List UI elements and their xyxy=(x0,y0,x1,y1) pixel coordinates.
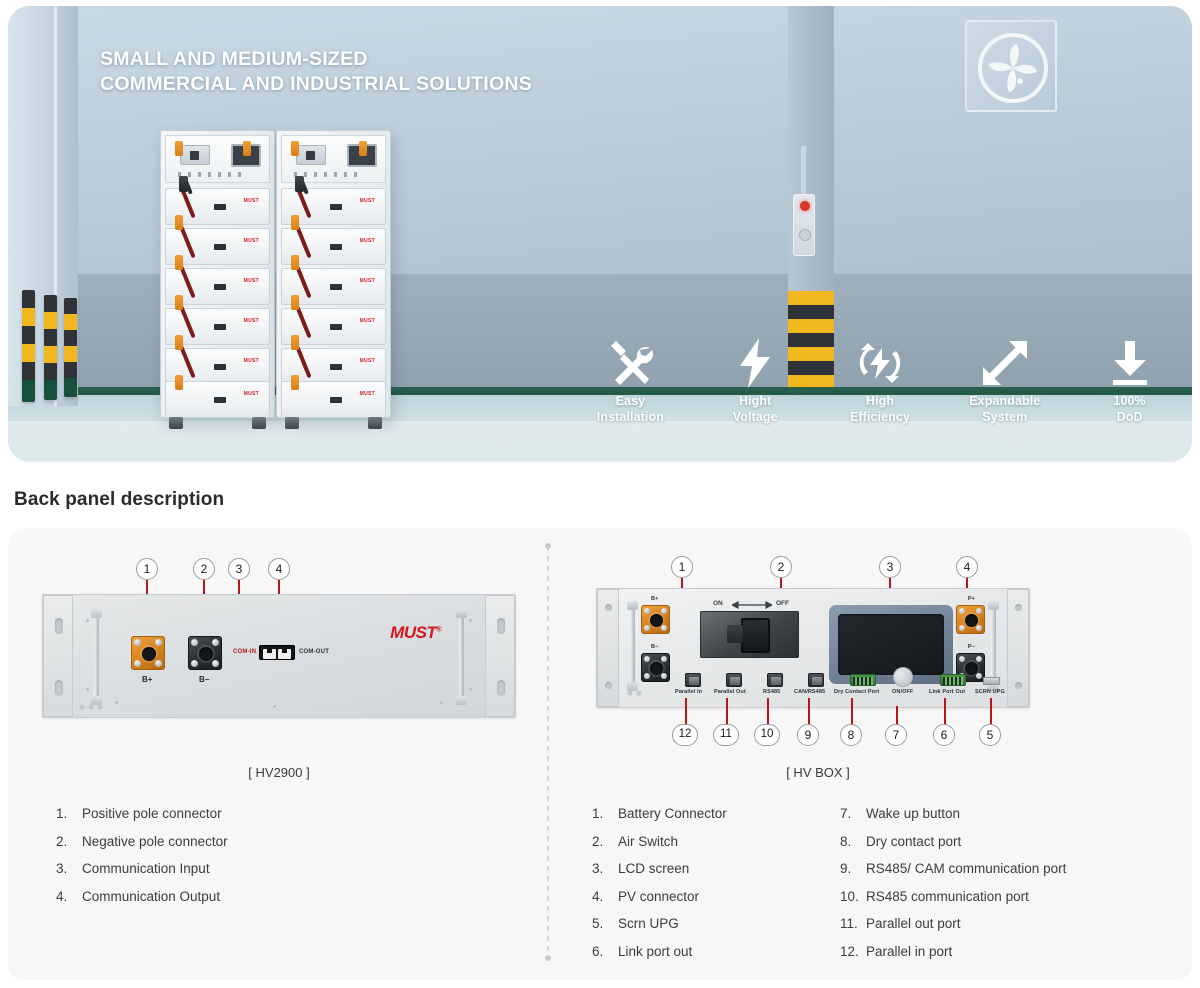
list-item: 6. Link port out xyxy=(592,938,822,966)
callout-marker-1-hvbox: 1 xyxy=(671,556,693,578)
callout-leader-7 xyxy=(896,706,898,725)
feature-high-efficiency: High Efficiency xyxy=(818,336,943,425)
rack-ear-left xyxy=(43,595,73,717)
dry-contact-label: Dry Contact Port xyxy=(834,689,879,695)
hero-headline-line2: COMMERCIAL AND INDUSTRIAL SOLUTIONS xyxy=(100,72,532,97)
callout-marker-10: 10 xyxy=(754,724,780,746)
com-in-label: COM-IN xyxy=(233,649,256,655)
com-in-jack[interactable] xyxy=(263,649,276,659)
list-item: 1. Battery Connector xyxy=(592,800,822,828)
hv2900-panel: B+ B− COM-IN COM-OUT MUST® xyxy=(42,594,516,718)
list-item: 11. Parallel out port xyxy=(840,910,1160,938)
can-rs485-label: CAN/RS485 xyxy=(794,689,825,695)
vertical-divider xyxy=(547,546,549,958)
bollard xyxy=(44,295,57,400)
parallel-in-label: Parallel In xyxy=(675,689,702,695)
list-item-label: RS485 communication port xyxy=(866,883,1029,911)
bollard xyxy=(22,290,35,402)
module-brand-mark: MUST xyxy=(244,318,259,324)
callout-marker-3: 3 xyxy=(228,558,250,580)
cabinet-meter xyxy=(296,145,326,165)
list-item-label: Link port out xyxy=(618,938,692,966)
feature-caption: High Efficiency xyxy=(850,394,910,425)
cabinet-orange-lug xyxy=(243,141,251,156)
module-brand-mark: MUST xyxy=(360,238,375,244)
parallel-out-port[interactable] xyxy=(726,673,742,687)
cabinet-orange-lug xyxy=(291,215,299,230)
feature-caption: Expandable System xyxy=(969,394,1040,425)
feature-caption-line2: Efficiency xyxy=(850,410,910,426)
download-arrow-icon xyxy=(1107,336,1153,390)
panel-vent-holes xyxy=(625,688,643,697)
panel-vent-holes xyxy=(77,702,103,711)
list-item: 9. RS485/ CAM communication port xyxy=(840,855,1160,883)
fan-icon xyxy=(976,31,1050,105)
feature-caption-line1: Expandable xyxy=(969,394,1040,410)
list-item-number: 4. xyxy=(56,883,82,911)
module-brand-mark: MUST xyxy=(360,358,375,364)
lcd-screen[interactable] xyxy=(829,605,953,684)
list-item-number: 12. xyxy=(840,938,866,966)
list-item-number: 8. xyxy=(840,828,866,856)
air-switch[interactable] xyxy=(700,611,799,658)
feature-high-voltage: Hight Voltage xyxy=(693,336,818,425)
battery-positive-label: B+ xyxy=(651,596,658,602)
negative-pole-connector[interactable] xyxy=(188,636,222,670)
link-port-out-label: Link Port Out xyxy=(929,689,965,695)
feature-caption: Easy Installation xyxy=(597,394,664,425)
callout-marker-2-hvbox: 2 xyxy=(770,556,792,578)
callout-marker-9: 9 xyxy=(797,724,819,746)
feature-caption-line2: System xyxy=(969,410,1040,426)
battery-negative-label: B− xyxy=(651,644,658,650)
callout-marker-5: 5 xyxy=(979,724,1001,746)
module-brand-mark: MUST xyxy=(360,391,375,397)
pv-positive-connector[interactable] xyxy=(956,605,985,634)
switch-on-label: ON xyxy=(713,600,723,607)
callout-leader-5 xyxy=(990,698,992,725)
hvbox-panel: B+ B− ON OFF P+ xyxy=(596,588,1030,708)
parallel-in-port[interactable] xyxy=(685,673,701,687)
feature-caption-line2: Voltage xyxy=(733,410,778,426)
cabinet-orange-lug xyxy=(175,375,183,390)
cabinet-caster xyxy=(285,417,299,429)
com-out-jack[interactable] xyxy=(278,649,291,659)
callout-leader-10 xyxy=(767,698,769,725)
section-title: Back panel description xyxy=(14,489,224,511)
list-item-label: Parallel in port xyxy=(866,938,952,966)
communication-port-block[interactable] xyxy=(259,645,295,660)
list-item: 1. Positive pole connector xyxy=(56,800,386,828)
cabinet-orange-lug xyxy=(359,141,367,156)
list-item: 3. LCD screen xyxy=(592,855,822,883)
list-item-number: 2. xyxy=(56,828,82,856)
dry-contact-port[interactable] xyxy=(850,674,876,686)
module-brand-mark: MUST xyxy=(360,318,375,324)
list-item-number: 2. xyxy=(592,828,618,856)
list-item-label: RS485/ CAM communication port xyxy=(866,855,1066,883)
hv2900-legend-list: 1. Positive pole connector 2. Negative p… xyxy=(56,800,386,910)
com-out-label: COM-OUT xyxy=(299,649,329,655)
list-item-label: LCD screen xyxy=(618,855,689,883)
list-item-number: 4. xyxy=(592,883,618,911)
pv-negative-label: P− xyxy=(968,644,975,650)
list-item-number: 6. xyxy=(592,938,618,966)
rs485-port[interactable] xyxy=(767,673,783,687)
callout-leader-8 xyxy=(851,698,853,725)
scrn-upg-port[interactable] xyxy=(983,677,1000,685)
callout-marker-8: 8 xyxy=(840,724,862,746)
list-item-label: Battery Connector xyxy=(618,800,727,828)
hvbox-legend-list-left: 1. Battery Connector 2. Air Switch 3. LC… xyxy=(592,800,822,965)
module-brand-mark: MUST xyxy=(244,198,259,204)
cabinet-black-lug xyxy=(295,176,304,192)
list-item-label: Negative pole connector xyxy=(82,828,228,856)
alarm-led-icon xyxy=(800,201,810,211)
list-item: 8. Dry contact port xyxy=(840,828,1160,856)
list-item-label: Dry contact port xyxy=(866,828,961,856)
feature-caption: Hight Voltage xyxy=(733,394,778,425)
module-brand-mark: MUST xyxy=(244,391,259,397)
alarm-conduit xyxy=(801,146,806,196)
callout-marker-2: 2 xyxy=(193,558,215,580)
switch-direction-arrows-icon xyxy=(732,601,772,609)
list-item-label: Communication Output xyxy=(82,883,220,911)
efficiency-cycle-icon xyxy=(855,336,905,390)
callout-leader-9 xyxy=(808,698,810,725)
hvbox-caption: [ HV BOX ] xyxy=(718,765,918,780)
list-item: 5. Scrn UPG xyxy=(592,910,822,938)
feature-easy-installation: Easy Installation xyxy=(568,336,693,425)
callout-leader-11 xyxy=(726,698,728,725)
tools-icon xyxy=(606,336,654,390)
cabinet-meter xyxy=(180,145,210,165)
callout-marker-3-hvbox: 3 xyxy=(879,556,901,578)
battery-positive-connector[interactable] xyxy=(641,605,670,634)
cabinet-caster xyxy=(252,417,266,429)
callout-marker-4: 4 xyxy=(268,558,290,580)
cabinet-orange-lug xyxy=(175,335,183,350)
feature-caption-line1: 100% xyxy=(1113,394,1145,410)
fire-alarm-box xyxy=(793,194,815,256)
list-item: 2. Negative pole connector xyxy=(56,828,386,856)
list-item-number: 10. xyxy=(840,883,866,911)
can-rs485-port[interactable] xyxy=(808,673,824,687)
battery-cabinet: MUST MUST MUST MUST MUST MUST xyxy=(160,130,275,418)
hvbox-legend-list-right: 7. Wake up button 8. Dry contact port 9.… xyxy=(840,800,1160,965)
cabinet-orange-lug xyxy=(291,375,299,390)
callout-marker-7: 7 xyxy=(885,724,907,746)
page-root: MUST MUST MUST MUST MUST MUST xyxy=(0,0,1200,988)
rs485-label: RS485 xyxy=(763,689,780,695)
rack-ear-right xyxy=(485,595,515,717)
feature-caption-line2: DoD xyxy=(1113,410,1145,426)
feature-caption-line1: Easy xyxy=(597,394,664,410)
cabinet-orange-lug xyxy=(291,335,299,350)
wake-up-button[interactable] xyxy=(893,667,913,687)
panel-handle-left xyxy=(627,603,638,689)
feature-100-dod: 100% DoD xyxy=(1067,336,1192,425)
module-brand-mark: MUST xyxy=(244,358,259,364)
list-item-label: Positive pole connector xyxy=(82,800,222,828)
cabinet-black-lug xyxy=(179,176,188,192)
scrn-upg-label: SCRN UPG xyxy=(975,689,1005,695)
list-item: 4. PV connector xyxy=(592,883,822,911)
cabinet-orange-lug xyxy=(291,295,299,310)
cabinet-indicator-row xyxy=(294,172,364,177)
list-item: 2. Air Switch xyxy=(592,828,822,856)
list-item-number: 3. xyxy=(592,855,618,883)
list-item-label: Scrn UPG xyxy=(618,910,679,938)
module-brand-mark: MUST xyxy=(244,278,259,284)
callout-marker-6: 6 xyxy=(933,724,955,746)
on-off-label: ON/OFF xyxy=(892,689,913,695)
switch-off-label: OFF xyxy=(776,600,789,607)
battery-negative-connector[interactable] xyxy=(641,653,670,682)
list-item: 4. Communication Output xyxy=(56,883,386,911)
bollard xyxy=(64,298,77,397)
negative-pole-label: B− xyxy=(199,675,209,684)
feature-caption: 100% DoD xyxy=(1113,394,1145,425)
list-item-label: PV connector xyxy=(618,883,699,911)
callout-marker-11: 11 xyxy=(713,724,739,746)
rack-ear-right xyxy=(1007,589,1029,707)
list-item-number: 9. xyxy=(840,855,866,883)
cabinet-indicator-row xyxy=(178,172,248,177)
feature-caption-line1: Hight xyxy=(733,394,778,410)
hero-banner: MUST MUST MUST MUST MUST MUST xyxy=(8,6,1192,462)
callout-marker-12: 12 xyxy=(672,724,698,746)
must-logo: MUST® xyxy=(390,623,441,643)
callout-leader-12 xyxy=(685,698,687,725)
exhaust-fan-vent xyxy=(965,20,1057,112)
rack-ear-left xyxy=(597,589,619,707)
expand-arrow-icon xyxy=(981,336,1029,390)
list-item-label: Communication Input xyxy=(82,855,210,883)
list-item-number: 11. xyxy=(840,910,866,938)
list-item-label: Air Switch xyxy=(618,828,678,856)
list-item-label: Parallel out port xyxy=(866,910,961,938)
list-item-number: 3. xyxy=(56,855,82,883)
feature-expandable-system: Expandable System xyxy=(942,336,1067,425)
list-item-label: Wake up button xyxy=(866,800,960,828)
cabinet-orange-lug xyxy=(291,255,299,270)
alarm-button-icon xyxy=(799,229,811,241)
list-item: 10. RS485 communication port xyxy=(840,883,1160,911)
parallel-out-label: Parallel Out xyxy=(714,689,746,695)
cabinet-orange-lug xyxy=(175,215,183,230)
list-item-number: 1. xyxy=(592,800,618,828)
panel-handle-left xyxy=(91,611,102,703)
list-item-number: 5. xyxy=(592,910,618,938)
feature-caption-line1: High xyxy=(850,394,910,410)
hero-headline-line1: SMALL AND MEDIUM-SIZED xyxy=(100,47,532,72)
cabinet-caster xyxy=(169,417,183,429)
battery-cabinet: MUST MUST MUST MUST MUST MUST xyxy=(276,130,391,418)
list-item: 7. Wake up button xyxy=(840,800,1160,828)
lightning-bolt-icon xyxy=(738,336,772,390)
cabinet-orange-lug xyxy=(291,141,299,156)
panel-handle-right xyxy=(456,611,467,703)
link-port-out[interactable] xyxy=(940,674,966,686)
cabinet-orange-lug xyxy=(175,255,183,270)
must-logo-text: MUST xyxy=(390,623,436,642)
positive-pole-label: B+ xyxy=(142,675,152,684)
pv-positive-label: P+ xyxy=(968,596,975,602)
list-item-number: 1. xyxy=(56,800,82,828)
list-item: 12. Parallel in port xyxy=(840,938,1160,966)
callout-marker-1: 1 xyxy=(136,558,158,580)
list-item: 3. Communication Input xyxy=(56,855,386,883)
list-item-number: 7. xyxy=(840,800,866,828)
feature-caption-line2: Installation xyxy=(597,410,664,426)
hero-headline: SMALL AND MEDIUM-SIZED COMMERCIAL AND IN… xyxy=(100,47,532,97)
cabinet-caster xyxy=(368,417,382,429)
positive-pole-connector[interactable] xyxy=(131,636,165,670)
module-brand-mark: MUST xyxy=(360,278,375,284)
cabinet-orange-lug xyxy=(175,141,183,156)
module-brand-mark: MUST xyxy=(244,238,259,244)
hv2900-caption: [ HV2900 ] xyxy=(179,765,379,780)
callout-leader-6 xyxy=(944,698,946,725)
registered-mark-icon: ® xyxy=(436,626,441,633)
feature-strip: Easy Installation Hight Voltage xyxy=(568,336,1192,454)
callout-marker-4-hvbox: 4 xyxy=(956,556,978,578)
module-brand-mark: MUST xyxy=(360,198,375,204)
cabinet-orange-lug xyxy=(175,295,183,310)
